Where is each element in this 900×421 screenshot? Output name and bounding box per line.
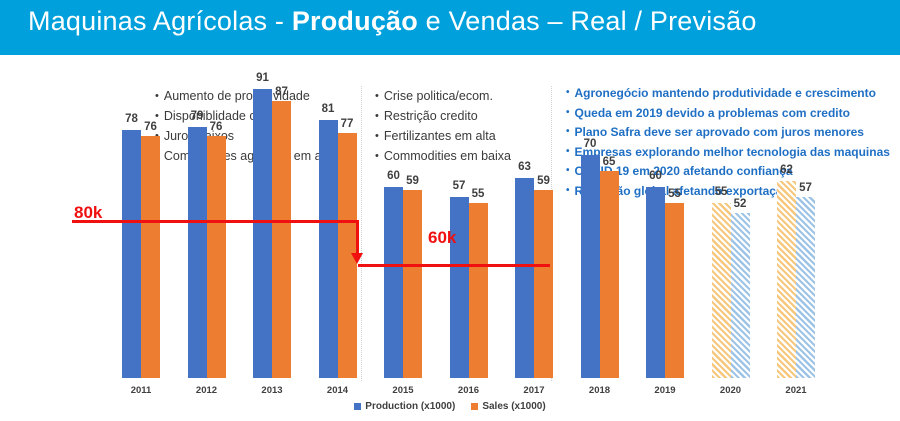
bar-group-2020: 5552 bbox=[712, 203, 750, 378]
bar-group-2019: 6055 bbox=[646, 187, 684, 378]
bar-value-production-2020: 55 bbox=[715, 186, 728, 198]
bar-value-production-2016: 57 bbox=[453, 180, 466, 192]
bar-production-2015: 60 bbox=[384, 187, 403, 378]
reference-line-80k bbox=[72, 220, 358, 223]
decline-arrow-head-icon bbox=[351, 253, 363, 264]
bar-value-sales-2015: 59 bbox=[406, 175, 419, 187]
x-axis-label-2016: 2016 bbox=[440, 385, 498, 396]
bar-sales-2013: 87 bbox=[272, 101, 291, 378]
bar-production-2012: 79 bbox=[188, 127, 207, 378]
bar-value-production-2011: 78 bbox=[125, 113, 138, 125]
bar-value-sales-2016: 55 bbox=[472, 188, 485, 200]
bar-group-2013: 9187 bbox=[253, 89, 291, 378]
decline-arrow-shaft bbox=[356, 220, 359, 256]
bar-group-2021: 6257 bbox=[777, 181, 815, 378]
bar-group-2014: 8177 bbox=[319, 120, 357, 378]
bar-value-production-2015: 60 bbox=[387, 170, 400, 182]
bar-production-2016: 57 bbox=[450, 197, 469, 378]
x-axis-label-2012: 2012 bbox=[178, 385, 236, 396]
bar-value-production-2018: 70 bbox=[584, 138, 597, 150]
bar-value-sales-2014: 77 bbox=[341, 118, 354, 130]
bar-sales-2015: 59 bbox=[403, 190, 422, 378]
x-axis-label-2014: 2014 bbox=[309, 385, 367, 396]
bar-value-sales-2019: 55 bbox=[668, 188, 681, 200]
legend-item[interactable]: Sales (x1000) bbox=[471, 401, 545, 412]
bar-production-2019: 60 bbox=[646, 187, 665, 378]
bar-group-2018: 7065 bbox=[581, 155, 619, 378]
reference-label-80k: 80k bbox=[74, 203, 102, 223]
bar-value-sales-2011: 76 bbox=[144, 121, 157, 133]
bar-sales-2017: 59 bbox=[534, 190, 553, 378]
x-axis-label-2019: 2019 bbox=[636, 385, 694, 396]
bar-value-sales-2020: 52 bbox=[734, 198, 747, 210]
x-axis-label-2021: 2021 bbox=[767, 385, 825, 396]
bar-sales-2019: 55 bbox=[665, 203, 684, 378]
bar-chart: 7876201179762012918720138177201460592015… bbox=[0, 0, 900, 421]
bar-production-2011: 78 bbox=[122, 130, 141, 378]
bar-group-2012: 7976 bbox=[188, 127, 226, 378]
x-axis-label-2013: 2013 bbox=[243, 385, 301, 396]
x-axis-label-2017: 2017 bbox=[505, 385, 563, 396]
bar-value-production-2013: 91 bbox=[256, 72, 269, 84]
bar-value-sales-2017: 59 bbox=[537, 175, 550, 187]
bar-production-2013: 91 bbox=[253, 89, 272, 378]
x-axis-label-2015: 2015 bbox=[374, 385, 432, 396]
x-axis-label-2018: 2018 bbox=[571, 385, 629, 396]
bar-value-sales-2012: 76 bbox=[210, 121, 223, 133]
bar-group-2017: 6359 bbox=[515, 178, 553, 378]
bar-production-2020: 55 bbox=[712, 203, 731, 378]
reference-label-60k: 60k bbox=[428, 228, 456, 248]
bar-value-production-2017: 63 bbox=[518, 161, 531, 173]
x-axis-label-2011: 2011 bbox=[112, 385, 170, 396]
bar-value-sales-2021: 57 bbox=[799, 182, 812, 194]
bar-group-2015: 6059 bbox=[384, 187, 422, 378]
bar-value-production-2012: 79 bbox=[191, 110, 204, 122]
bar-sales-2011: 76 bbox=[141, 136, 160, 378]
chart-legend: Production (x1000)Sales (x1000) bbox=[0, 401, 900, 412]
bar-production-2018: 70 bbox=[581, 155, 600, 378]
bar-value-production-2019: 60 bbox=[649, 170, 662, 182]
bar-sales-2016: 55 bbox=[469, 203, 488, 378]
bar-sales-2012: 76 bbox=[207, 136, 226, 378]
bar-value-sales-2013: 87 bbox=[275, 86, 288, 98]
bar-group-2016: 5755 bbox=[450, 197, 488, 378]
legend-swatch-icon bbox=[354, 403, 361, 410]
bar-production-2014: 81 bbox=[319, 120, 338, 378]
legend-label: Production (x1000) bbox=[365, 401, 455, 412]
bar-sales-2018: 65 bbox=[600, 171, 619, 378]
bar-value-sales-2018: 65 bbox=[603, 156, 616, 168]
bar-value-production-2014: 81 bbox=[322, 103, 335, 115]
bar-sales-2021: 57 bbox=[796, 197, 815, 378]
bar-production-2017: 63 bbox=[515, 178, 534, 378]
legend-item[interactable]: Production (x1000) bbox=[354, 401, 455, 412]
bar-sales-2020: 52 bbox=[731, 213, 750, 378]
bar-production-2021: 62 bbox=[777, 181, 796, 378]
legend-swatch-icon bbox=[471, 403, 478, 410]
x-axis-label-2020: 2020 bbox=[702, 385, 760, 396]
bar-group-2011: 7876 bbox=[122, 130, 160, 378]
legend-label: Sales (x1000) bbox=[482, 401, 545, 412]
bar-value-production-2021: 62 bbox=[780, 164, 793, 176]
reference-line-60k bbox=[358, 264, 550, 267]
